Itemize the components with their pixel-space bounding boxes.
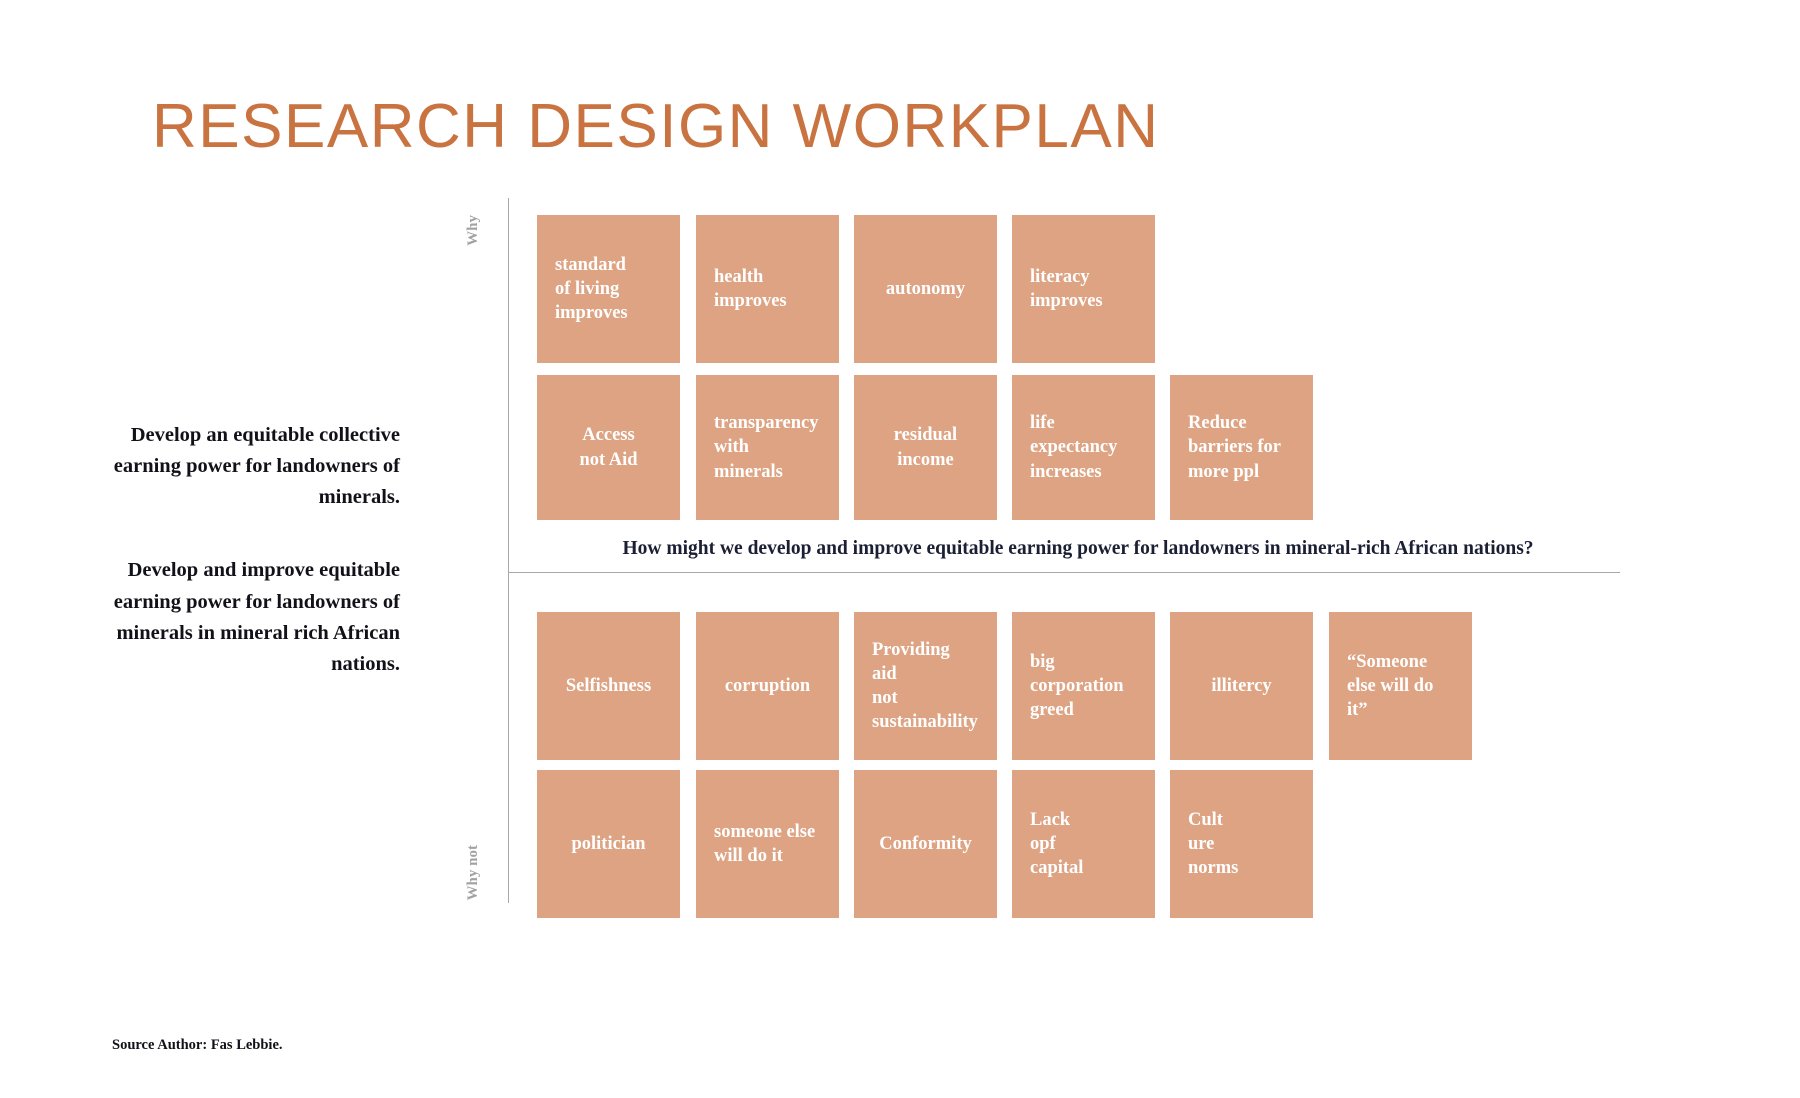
idea-card[interactable]: autonomy <box>854 215 997 363</box>
idea-card-label: health improves <box>714 265 787 313</box>
idea-card[interactable]: Reduce barriers for more ppl <box>1170 375 1313 520</box>
idea-card-label: Reduce barriers for more ppl <box>1188 411 1281 483</box>
idea-card[interactable]: Selfishness <box>537 612 680 760</box>
idea-card-label: standard of living improves <box>555 253 628 325</box>
idea-card-label: Cult ure norms <box>1188 808 1238 880</box>
idea-card-label: someone else will do it <box>714 820 815 868</box>
idea-card[interactable]: someone else will do it <box>696 770 839 918</box>
idea-card[interactable]: Cult ure norms <box>1170 770 1313 918</box>
problem-statement-1: Develop an equitable collective earning … <box>100 420 400 513</box>
idea-card[interactable]: life expectancy increases <box>1012 375 1155 520</box>
idea-card[interactable]: standard of living improves <box>537 215 680 363</box>
idea-card-label: big corporation greed <box>1030 650 1124 722</box>
why-not-axis-rail <box>508 573 509 903</box>
idea-card-label: Conformity <box>879 832 971 856</box>
idea-card[interactable]: health improves <box>696 215 839 363</box>
idea-card[interactable]: residual income <box>854 375 997 520</box>
why-axis-label: Why <box>465 215 482 246</box>
idea-card-label: corruption <box>725 674 810 698</box>
idea-card-label: residual income <box>894 423 957 471</box>
why-axis-rail <box>508 198 509 572</box>
idea-card[interactable]: literacy improves <box>1012 215 1155 363</box>
idea-card[interactable]: big corporation greed <box>1012 612 1155 760</box>
why-not-axis-label: Why not <box>465 845 482 900</box>
idea-card[interactable]: corruption <box>696 612 839 760</box>
idea-card[interactable]: politician <box>537 770 680 918</box>
idea-card[interactable]: Access not Aid <box>537 375 680 520</box>
idea-card-label: literacy improves <box>1030 265 1103 313</box>
idea-card-label: Providing aid not sustainability <box>872 638 979 734</box>
idea-card-label: Access not Aid <box>579 423 637 471</box>
idea-card-label: transparency with minerals <box>714 411 821 483</box>
idea-card-label: life expectancy increases <box>1030 411 1117 483</box>
idea-card[interactable]: Lack opf capital <box>1012 770 1155 918</box>
page-title: RESEARCH DESIGN WORKPLAN <box>152 96 1160 158</box>
idea-card-label: politician <box>571 832 645 856</box>
central-question: How might we develop and improve equitab… <box>538 538 1618 560</box>
idea-card[interactable]: Providing aid not sustainability <box>854 612 997 760</box>
source-credit: Source Author: Fas Lebbie. <box>112 1037 283 1054</box>
idea-card-label: “Someone else will do it” <box>1347 650 1433 722</box>
problem-statement-2: Develop and improve equitable earning po… <box>100 555 400 680</box>
idea-card-label: Selfishness <box>566 674 651 698</box>
section-divider <box>508 572 1620 573</box>
idea-card[interactable]: Conformity <box>854 770 997 918</box>
idea-card[interactable]: “Someone else will do it” <box>1329 612 1472 760</box>
idea-card[interactable]: illitercy <box>1170 612 1313 760</box>
idea-card-label: Lack opf capital <box>1030 808 1083 880</box>
idea-card-label: illitercy <box>1211 674 1271 698</box>
idea-card-label: autonomy <box>886 277 965 301</box>
idea-card[interactable]: transparency with minerals <box>696 375 839 520</box>
problem-statements-panel: Develop an equitable collective earning … <box>100 420 400 680</box>
